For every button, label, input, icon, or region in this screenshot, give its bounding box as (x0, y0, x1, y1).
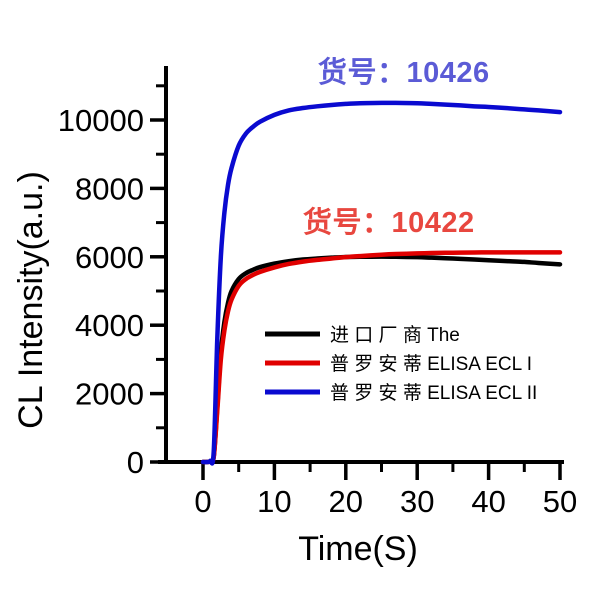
x-axis-tick-labels: 01020304050 (194, 484, 577, 519)
legend-label-1: 普 罗 安 蒂 ELISA ECL I (330, 353, 532, 375)
x-tick-label: 10 (257, 484, 291, 519)
series-line-2 (203, 103, 560, 464)
y-tick-label: 2000 (75, 377, 144, 412)
x-tick-label: 30 (400, 484, 434, 519)
chart-legend: 进 口 厂 商 The普 罗 安 蒂 ELISA ECL I普 罗 安 蒂 EL… (265, 324, 537, 404)
y-axis-tick-labels: 0200040006000800010000 (58, 103, 144, 480)
y-tick-label: 0 (127, 445, 144, 480)
y-tick-label: 6000 (75, 240, 144, 275)
x-tick-label: 0 (194, 484, 211, 519)
data-series-group (203, 103, 560, 464)
x-tick-label: 20 (329, 484, 363, 519)
annotation-group: 货号：10426 货号：10422 (303, 55, 490, 239)
legend-label-2: 普 罗 安 蒂 ELISA ECL II (330, 382, 537, 404)
x-axis-title: Time(S) (298, 530, 418, 568)
x-axis-ticks (203, 462, 560, 480)
y-tick-label: 8000 (75, 171, 144, 206)
y-axis-ticks (150, 86, 166, 462)
x-tick-label: 40 (471, 484, 505, 519)
y-tick-label: 4000 (75, 308, 144, 343)
blue-annotation-label: 货号：10426 (318, 55, 490, 89)
legend-label-0: 进 口 厂 商 The (330, 324, 460, 346)
chart-container: CL Intensity(a.u.) Time(S) 0200040006000… (0, 0, 600, 600)
red-annotation-label: 货号：10422 (303, 205, 475, 239)
y-tick-label: 10000 (58, 103, 144, 138)
y-axis-title: CL Intensity(a.u.) (12, 171, 50, 429)
x-tick-label: 50 (543, 484, 577, 519)
cl-intensity-plot: CL Intensity(a.u.) Time(S) 0200040006000… (0, 0, 600, 600)
